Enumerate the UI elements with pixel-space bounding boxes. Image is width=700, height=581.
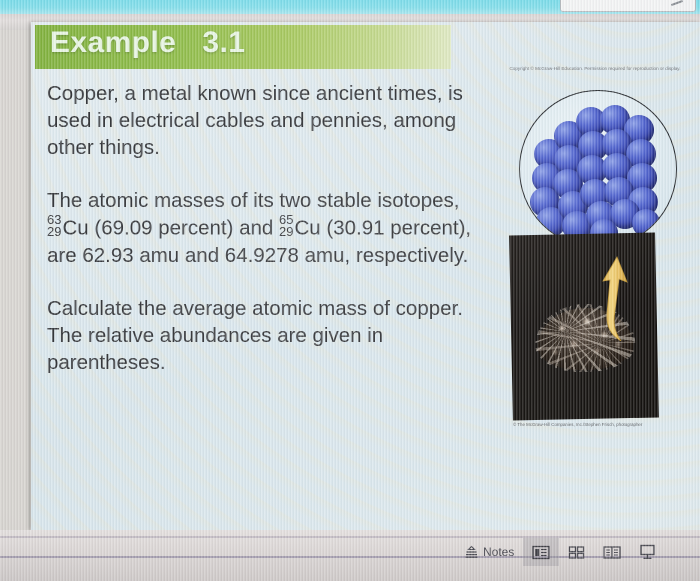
notes-button-label: Notes	[483, 545, 514, 559]
isotope-1-symbol: Cu	[62, 217, 88, 240]
curved-up-arrow	[597, 255, 645, 341]
notes-button[interactable]: Notes	[455, 538, 523, 566]
isotopes-lead: The atomic masses of its two stable isot…	[47, 189, 459, 212]
photo-credit: © The McGraw-Hill Companies, Inc./Stephe…	[513, 422, 700, 428]
paragraph-intro: Copper, a metal known since ancient time…	[47, 80, 499, 161]
notes-icon	[464, 545, 479, 560]
copper-atom-lattice-diagram	[519, 90, 677, 248]
slide-sorter-icon	[568, 545, 585, 560]
status-bar: Notes	[0, 530, 700, 581]
isotope-1-numbers: 6329	[47, 214, 61, 237]
isotope-2-numbers: 6529	[279, 214, 293, 237]
copyright-note: Copyright © McGraw-Hill Education. Permi…	[505, 66, 685, 72]
slide-sorter-button[interactable]	[559, 538, 594, 566]
isotope-2-symbol: Cu	[294, 217, 320, 240]
isotope-cu-65: 6529Cu	[279, 214, 321, 242]
slide-show-button[interactable]	[630, 538, 665, 566]
slide-body-text: Copper, a metal known since ancient time…	[47, 80, 499, 376]
reading-view-icon	[603, 545, 621, 560]
page-title: Example 3.1	[50, 26, 245, 60]
normal-view-icon	[532, 545, 550, 560]
paragraph-isotopes: The atomic masses of its two stable isot…	[47, 187, 499, 269]
isotope-cu-63: 6329Cu	[47, 214, 89, 242]
paragraph-question: Calculate the average atomic mass of cop…	[47, 295, 499, 376]
view-controls: Notes	[455, 538, 665, 566]
reading-view-button[interactable]	[594, 538, 630, 566]
toolbar-box-mark	[671, 0, 683, 6]
isotopes-mid: (69.09 percent) and	[89, 217, 279, 240]
screen-photograph: Example 3.1 Copper, a metal known since …	[0, 0, 700, 581]
isotope-2-atomic-number: 29	[279, 226, 293, 238]
slide-show-icon	[639, 544, 656, 560]
isotope-1-atomic-number: 29	[47, 226, 61, 238]
presentation-slide: Example 3.1 Copper, a metal known since …	[31, 22, 700, 530]
normal-view-button[interactable]	[523, 538, 559, 566]
toolbar-box[interactable]	[560, 0, 696, 12]
